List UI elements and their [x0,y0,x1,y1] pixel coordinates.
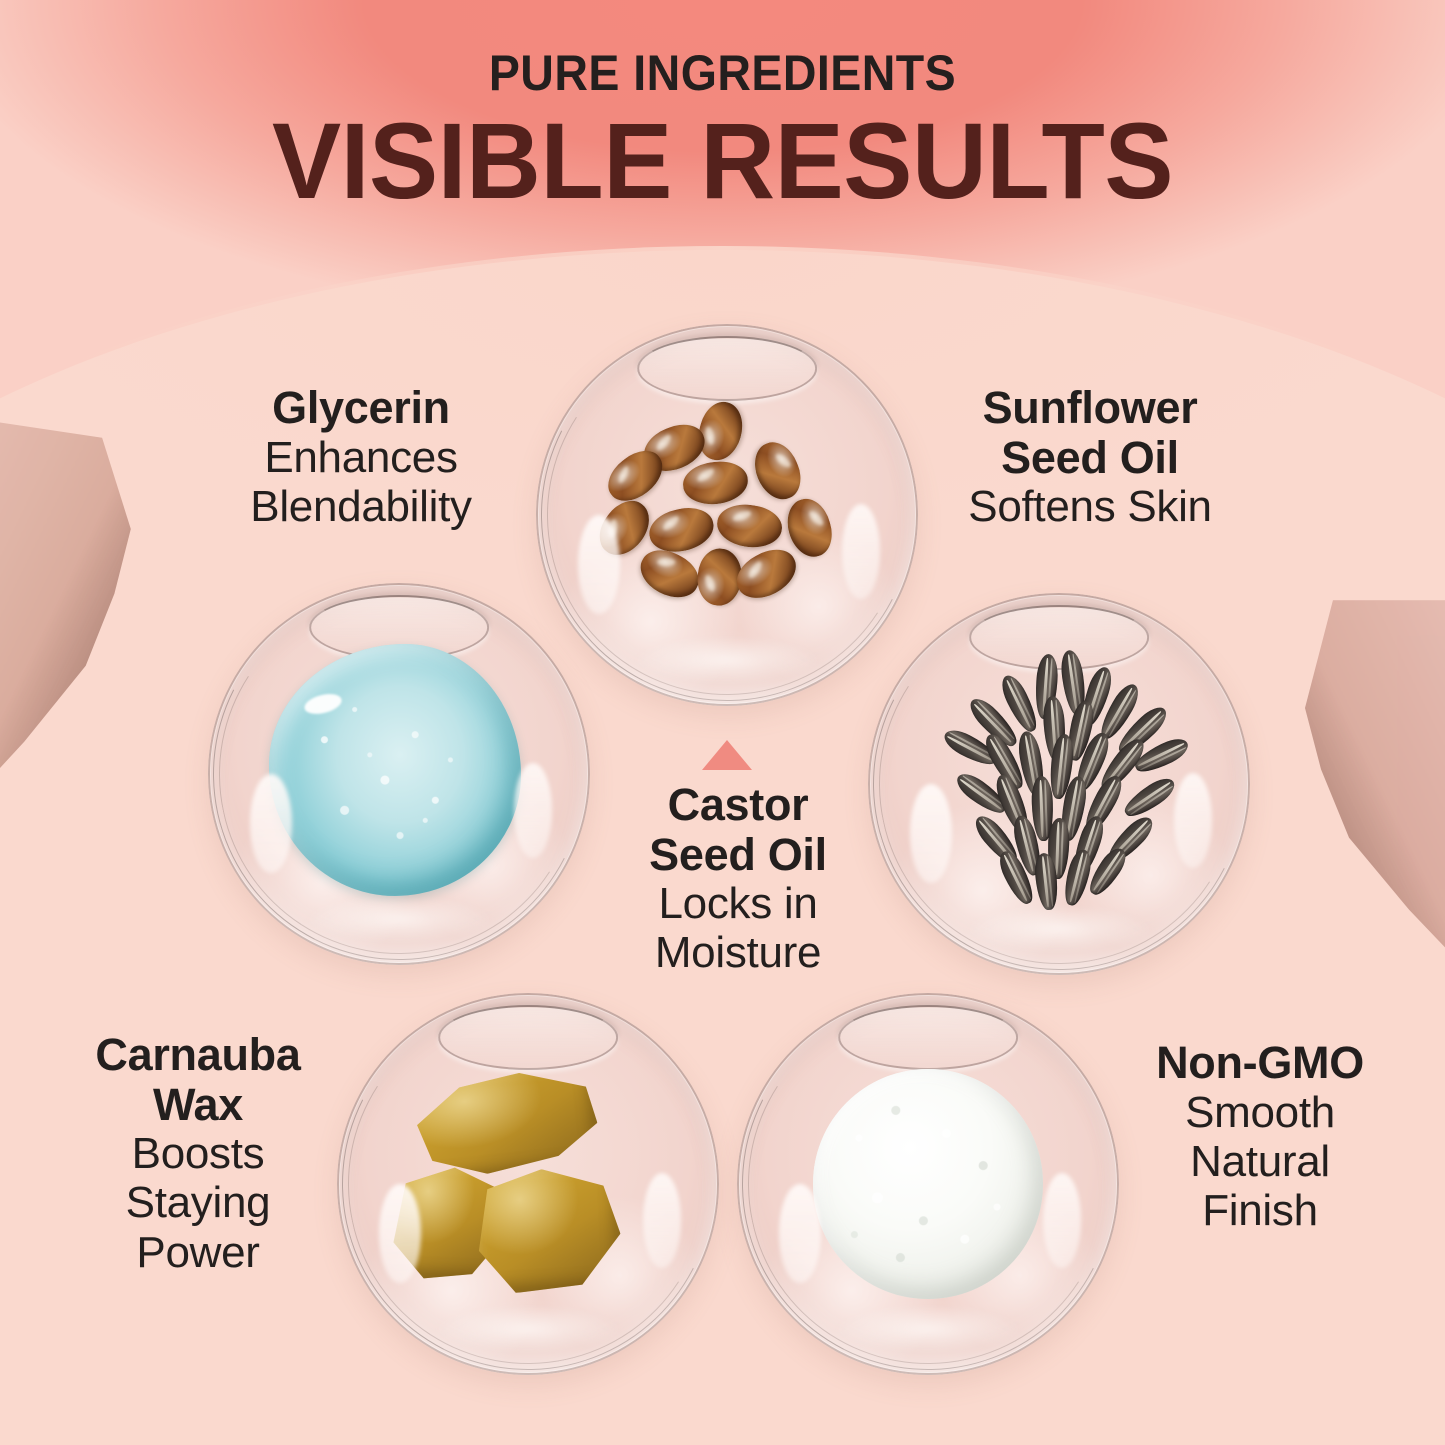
glass-gloss-right [643,1173,681,1269]
ingredient-sphere-glycerin [208,583,590,965]
label-castor-seed-oil: Castor Seed Oil Locks in Moisture [588,780,888,978]
ingredient-sphere-non-gmo [737,993,1119,1375]
carnauba-benefit-2: Staying [38,1178,358,1227]
sunflower-benefit-1: Softens Skin [925,482,1255,531]
headline-block: PURE INGREDIENTS VISIBLE RESULTS [0,48,1445,218]
headline-line-2: VISIBLE RESULTS [29,104,1416,218]
glass-gloss-right [842,504,880,600]
label-glycerin: Glycerin Enhances Blendability [196,383,526,531]
non-gmo-benefit-1: Smooth [1100,1088,1420,1137]
glass-gloss-bottom [307,896,490,942]
glass-gloss-bottom [836,1306,1019,1352]
white-powder-mound [813,1069,1042,1298]
wax-chunk-top [401,1064,602,1187]
non-gmo-title: Non-GMO [1100,1038,1420,1088]
sunflower-title-2: Seed Oil [925,433,1255,483]
glass-gloss-right [1174,773,1212,869]
carnauba-title-2: Wax [38,1080,358,1130]
castor-pointer-triangle-icon [702,740,752,770]
non-gmo-benefit-2: Natural [1100,1137,1420,1186]
carnauba-benefit-1: Boosts [38,1129,358,1178]
powder-grain-texture [813,1069,1042,1298]
ingredient-sphere-sunflower-seed-oil [868,593,1250,975]
glass-gloss-right [1043,1173,1081,1269]
castor-benefit-1: Locks in [588,879,888,928]
label-carnauba-wax: Carnauba Wax Boosts Staying Power [38,1030,358,1277]
glass-gloss-bottom [436,1306,619,1352]
gel-bubbles [269,644,521,896]
ingredients-infographic: PURE INGREDIENTS VISIBLE RESULTS [0,0,1445,1445]
label-sunflower-seed-oil: Sunflower Seed Oil Softens Skin [925,383,1255,531]
label-non-gmo: Non-GMO Smooth Natural Finish [1100,1038,1420,1235]
glycerin-benefit-1: Enhances [196,433,526,482]
glass-gloss-right [514,763,552,859]
glass-gloss-left [910,784,952,883]
carnauba-benefit-3: Power [38,1228,358,1277]
glass-gloss-left [379,1184,421,1283]
castor-benefit-2: Moisture [588,928,888,977]
glass-gloss-bottom [967,906,1150,952]
carnauba-title-1: Carnauba [38,1030,358,1080]
teal-gel-blob [269,644,521,896]
glass-gloss-left [250,774,292,873]
castor-title-1: Castor [588,780,888,830]
ingredient-sphere-castor-seed-oil [536,324,918,706]
ingredient-sphere-carnauba-wax [337,993,719,1375]
glycerin-benefit-2: Blendability [196,482,526,531]
glass-gloss-left [779,1184,821,1283]
headline-line-1: PURE INGREDIENTS [51,48,1395,98]
glass-gloss-bottom [635,637,818,683]
sunflower-title-1: Sunflower [925,383,1255,433]
non-gmo-benefit-3: Finish [1100,1186,1420,1235]
castor-title-2: Seed Oil [588,830,888,880]
glycerin-title: Glycerin [196,383,526,433]
wax-chunk-right [471,1165,622,1295]
